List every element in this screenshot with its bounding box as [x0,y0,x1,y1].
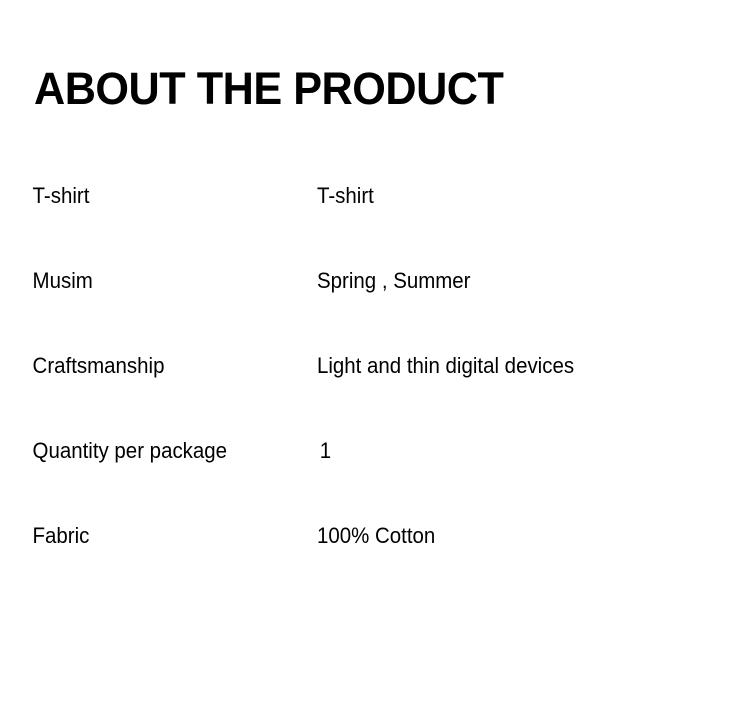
table-row: Musim Spring , Summer [0,266,750,351]
table-row: Fabric 100% Cotton [0,521,750,606]
spec-value: 1 [317,436,720,466]
table-row: Craftsmanship Light and thin digital dev… [0,351,750,436]
product-spec-table: T-shirt T-shirt Musim Spring , Summer Cr… [0,181,750,606]
spec-value: Spring , Summer [317,266,720,296]
table-row: T-shirt T-shirt [0,181,750,266]
page-title: ABOUT THE PRODUCT [34,66,503,112]
spec-label: Craftsmanship [0,351,295,381]
spec-value: 100% Cotton [317,521,720,551]
about-the-product-panel: ABOUT THE PRODUCT T-shirt T-shirt Musim … [0,0,750,701]
spec-value: Light and thin digital devices [317,351,720,381]
spec-value: T-shirt [317,181,720,211]
spec-label: Quantity per package [0,436,295,466]
table-row: Quantity per package 1 [0,436,750,521]
spec-label: Musim [0,266,295,296]
spec-label: Fabric [0,521,295,551]
spec-label: T-shirt [0,181,295,211]
